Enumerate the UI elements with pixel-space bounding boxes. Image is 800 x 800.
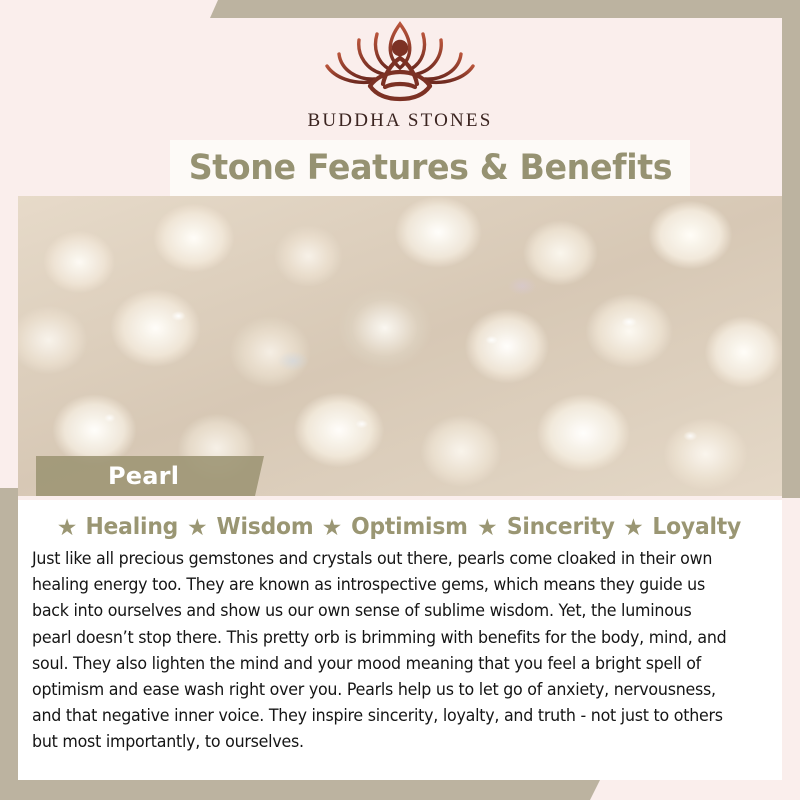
title-banner: Stone Features & Benefits xyxy=(170,140,690,196)
brand-logo: BUDDHA STONES xyxy=(0,14,800,132)
page-title: Stone Features & Benefits xyxy=(188,148,671,188)
frame-band-left xyxy=(0,488,18,780)
star-icon: ★ xyxy=(187,516,208,539)
benefit-label: Wisdom xyxy=(216,514,313,540)
star-icon: ★ xyxy=(477,516,498,539)
description-paragraph: Just like all precious gemstones and cry… xyxy=(32,546,735,756)
content-card: ★ Healing ★ Wisdom ★ Optimism ★ Sincerit… xyxy=(18,500,782,780)
frame-band-bottom xyxy=(0,780,600,800)
benefit-item-wisdom: ★ Wisdom xyxy=(187,514,316,540)
benefit-label: Optimism xyxy=(351,514,468,540)
hero-image: Pearl xyxy=(18,196,782,496)
stone-name-band: Pearl xyxy=(36,456,264,496)
benefit-item-optimism: ★ Optimism xyxy=(322,514,471,540)
lotus-meditation-figure-logo-icon xyxy=(315,14,485,106)
stone-name-label: Pearl xyxy=(108,462,179,490)
benefit-item-sincerity: ★ Sincerity xyxy=(477,514,617,540)
star-icon: ★ xyxy=(623,516,644,539)
poster-canvas: BUDDHA STONES Stone Features & Benefits … xyxy=(0,0,800,800)
pearls-photo-highlights xyxy=(18,196,782,496)
star-icon: ★ xyxy=(57,516,78,539)
benefit-label: Loyalty xyxy=(652,514,741,540)
benefit-item-healing: ★ Healing xyxy=(57,514,181,540)
star-icon: ★ xyxy=(322,516,343,539)
benefit-label: Sincerity xyxy=(506,514,614,540)
brand-name: BUDDHA STONES xyxy=(307,110,492,132)
benefit-keyword-row: ★ Healing ★ Wisdom ★ Optimism ★ Sincerit… xyxy=(18,500,782,540)
benefit-item-loyalty: ★ Loyalty xyxy=(623,514,743,540)
benefit-label: Healing xyxy=(86,514,179,540)
